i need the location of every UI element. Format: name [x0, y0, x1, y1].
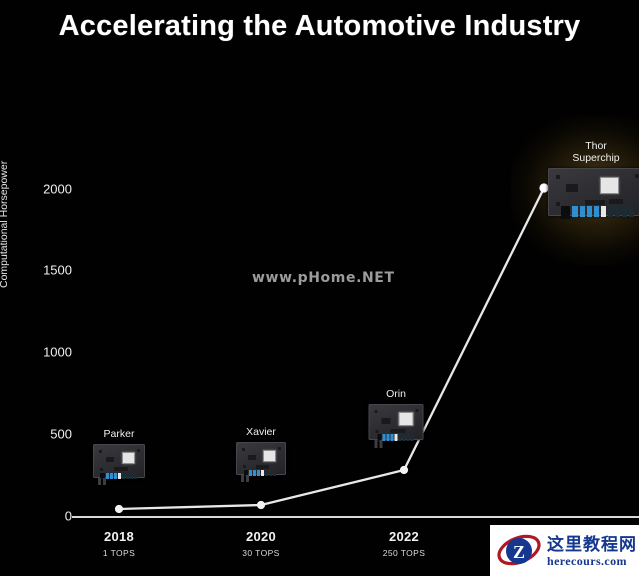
- smd-icon: [106, 457, 114, 462]
- smd-icon: [416, 409, 419, 412]
- smd-icon: [137, 449, 140, 452]
- data-point-2018: [115, 505, 123, 513]
- chip-legs-icon: [241, 475, 249, 482]
- smd-icon: [100, 468, 103, 471]
- smd-icon: [99, 450, 102, 453]
- chip-orin-board: [369, 404, 424, 440]
- smd-icon: [556, 202, 560, 206]
- logo-en-text: herecours.com: [547, 554, 627, 569]
- chip-thor-board: [548, 168, 639, 216]
- chip-die-icon: [399, 412, 414, 426]
- chip-legs-icon: [375, 440, 383, 448]
- logo-orbit-icon: Z: [496, 530, 542, 571]
- chip-xavier-board: [236, 442, 286, 475]
- smd-icon: [635, 174, 639, 178]
- slide-canvas: Accelerating the Automotive Industry Com…: [0, 0, 639, 576]
- chip-die-icon: [263, 450, 276, 462]
- smd-icon: [382, 418, 391, 424]
- smd-icon: [566, 184, 578, 192]
- smd-icon: [114, 467, 128, 471]
- chip-thor: Thor Superchip: [548, 140, 639, 216]
- chip-die-icon: [122, 452, 135, 464]
- chip-pins-icon: [378, 434, 414, 442]
- data-series-line: [0, 0, 639, 576]
- smd-icon: [391, 429, 406, 433]
- chip-xavier-label: Xavier: [236, 426, 286, 438]
- chip-parker-board: [93, 444, 145, 478]
- data-point-2020: [257, 501, 265, 509]
- smd-icon: [609, 199, 623, 204]
- chart-plot-area: Computational Horsepower 0 500 1000 1500…: [0, 0, 639, 576]
- svg-text:Z: Z: [513, 542, 525, 562]
- smd-icon: [375, 410, 378, 413]
- smd-icon: [376, 430, 379, 433]
- series-polyline: [119, 188, 544, 509]
- chip-xavier: Xavier: [236, 426, 286, 475]
- chip-parker-label: Parker: [93, 428, 145, 440]
- site-logo-watermark: Z 这里教程网 herecours.com: [490, 525, 639, 576]
- center-watermark: www.pHome.NET: [252, 270, 395, 286]
- logo-cn-text: 这里教程网: [547, 530, 637, 555]
- chip-parker: Parker: [93, 428, 145, 478]
- smd-icon: [256, 465, 269, 469]
- data-point-2022: [400, 466, 408, 474]
- chip-thor-label: Thor Superchip: [548, 140, 639, 164]
- smd-icon: [248, 455, 256, 460]
- smd-icon: [242, 448, 245, 451]
- smd-icon: [243, 465, 246, 468]
- chip-pins-icon: [561, 206, 634, 219]
- chip-die-icon: [600, 177, 619, 194]
- smd-icon: [278, 447, 281, 450]
- chip-legs-icon: [98, 478, 106, 485]
- smd-icon: [585, 200, 605, 205]
- smd-icon: [556, 175, 560, 179]
- chip-orin: Orin: [369, 388, 424, 440]
- chip-orin-label: Orin: [369, 388, 424, 400]
